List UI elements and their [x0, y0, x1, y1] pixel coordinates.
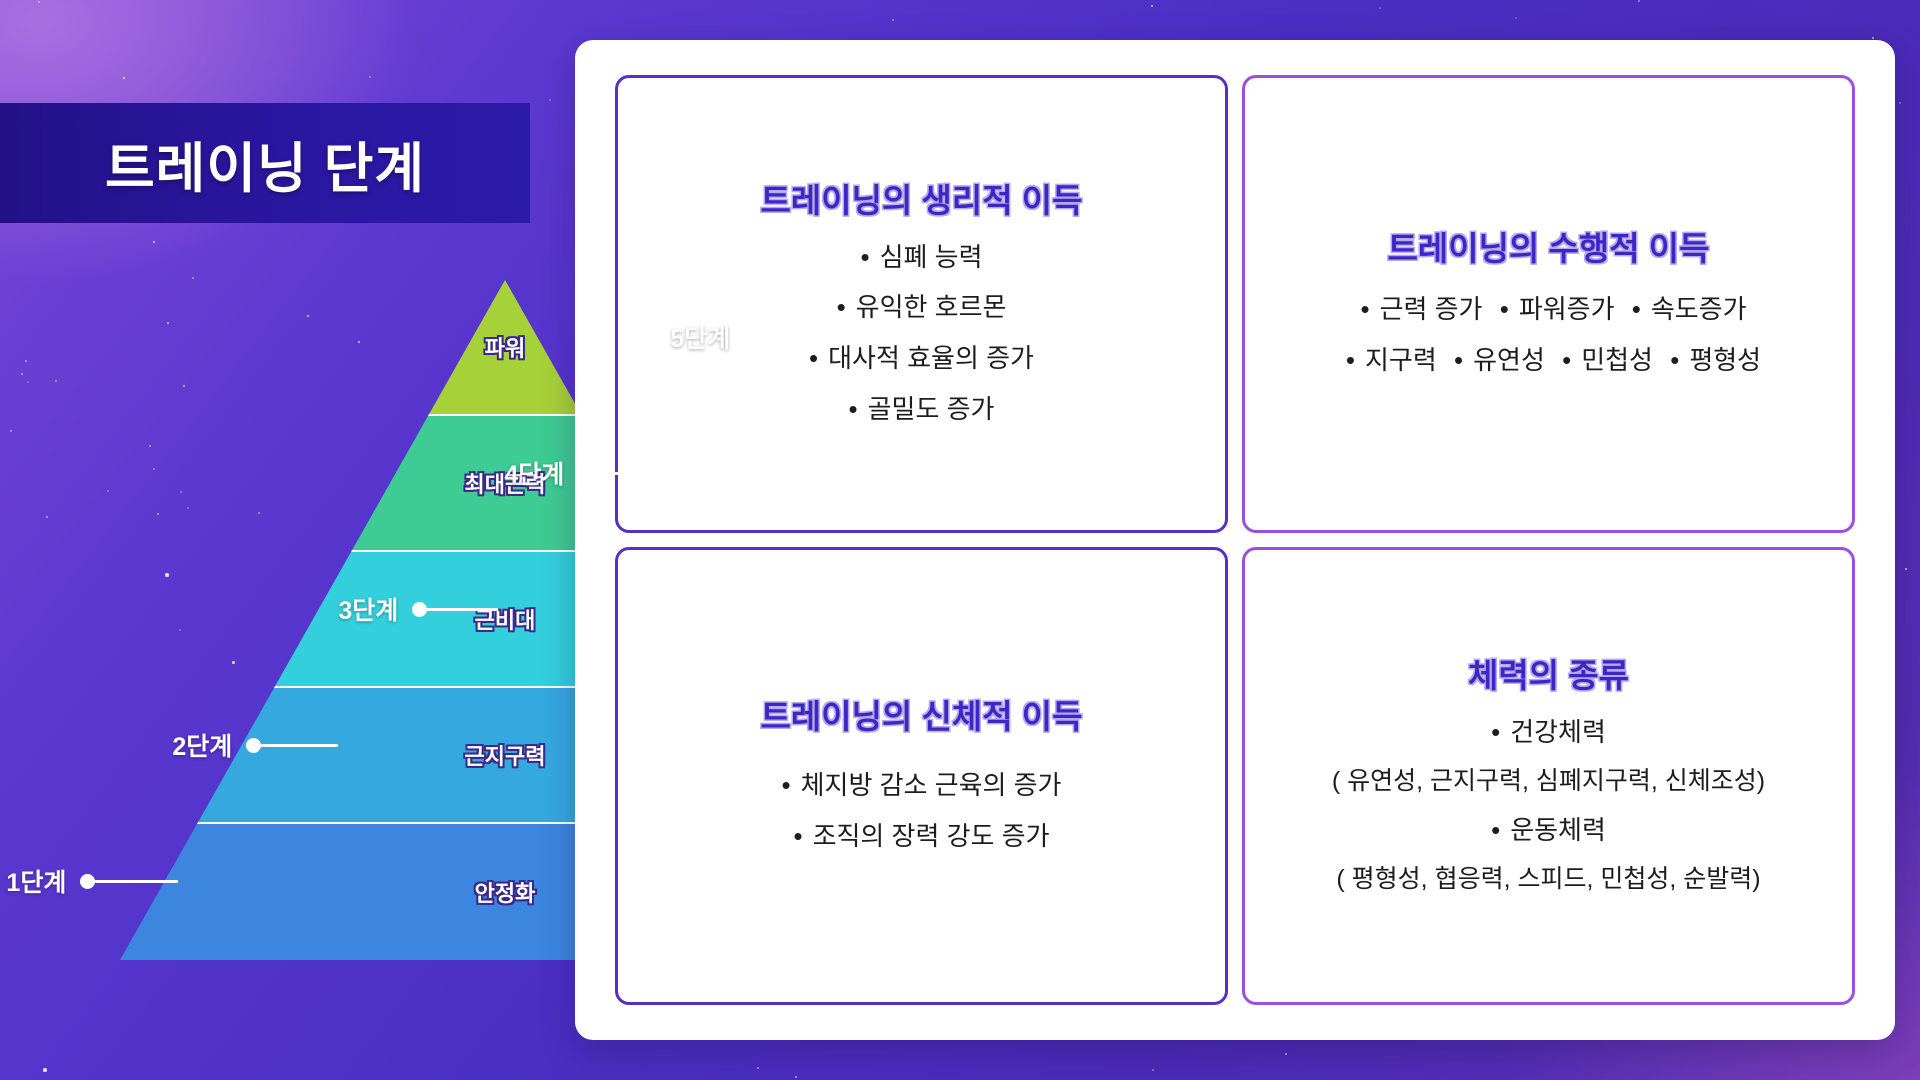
- star-dot: [1638, 0, 1640, 2]
- stage-label: 4단계: [504, 455, 564, 491]
- star-dot: [192, 277, 194, 279]
- callout-line: [592, 472, 658, 475]
- card-performance-benefits[interactable]: 트레이닝의 수행적 이득 •근력 증가 •파워증가 •속도증가 •지구력 •유연…: [1242, 75, 1855, 533]
- callout-line: [426, 608, 498, 611]
- star-dot: [10, 430, 12, 432]
- card-title-physiological: 트레이닝의 생리적 이득: [761, 174, 1083, 222]
- star-dot: [1899, 102, 1901, 104]
- card-physiological-benefits[interactable]: 트레이닝의 생리적 이득 심폐 능력 유익한 호르몬 대사적 효율의 증가 골밀…: [615, 75, 1228, 533]
- star-dot: [1152, 1069, 1154, 1071]
- performance-row-2: •지구력 •유연성 •민첩성 •평형성: [1336, 335, 1761, 386]
- star-dot: [1379, 7, 1381, 9]
- stage-label: 5단계: [670, 319, 730, 355]
- callout-line: [758, 336, 818, 339]
- fitness-list-2: 운동체력: [1491, 805, 1606, 856]
- callout-dot: [412, 602, 427, 617]
- star-dot: [27, 381, 29, 383]
- star-dot: [123, 77, 125, 79]
- physical-bullet-list: 체지방 감소 근육의 증가 조직의 장력 강도 증가: [782, 760, 1062, 861]
- page-title: 트레이닝 단계: [105, 124, 425, 203]
- star-dot: [21, 373, 23, 375]
- stage-callout-5[interactable]: 5단계: [331, 325, 819, 349]
- card-fitness-types[interactable]: 체력의 종류 건강체력 ( 유연성, 근지구력, 심폐지구력, 신체조성) 운동…: [1242, 547, 1855, 1005]
- list-item: 대사적 효율의 증가: [809, 333, 1034, 384]
- title-banner: 트레이닝 단계: [0, 103, 530, 223]
- star-dot: [757, 1067, 759, 1069]
- card-grid: 트레이닝의 생리적 이득 심폐 능력 유익한 호르몬 대사적 효율의 증가 골밀…: [615, 75, 1855, 1005]
- list-item: 조직의 장력 강도 증가: [782, 811, 1062, 862]
- fitness-note-motor: ( 평형성, 협응력, 스피드, 민첩성, 순발력): [1336, 856, 1760, 904]
- stage-callout-1[interactable]: 1단계: [0, 869, 178, 893]
- stage-label: 1단계: [6, 863, 66, 899]
- list-item: 심폐 능력: [809, 232, 1034, 283]
- star-dot: [153, 241, 155, 243]
- performance-row-1: •근력 증가 •파워증가 •속도증가: [1350, 284, 1746, 335]
- stage-label: 2단계: [172, 727, 232, 763]
- star-dot: [1285, 1053, 1287, 1055]
- star-dot: [107, 490, 109, 492]
- fitness-note-health: ( 유연성, 근지구력, 심폐지구력, 신체조성): [1332, 758, 1765, 806]
- list-item: 평형성: [1689, 345, 1761, 375]
- list-item: 운동체력: [1491, 805, 1606, 856]
- list-item: 지구력: [1365, 345, 1437, 375]
- star-dot: [1872, 37, 1874, 39]
- stage-label: 3단계: [338, 591, 398, 627]
- star-dot: [1151, 5, 1153, 7]
- list-item: 골밀도 증가: [809, 384, 1034, 435]
- callout-dot: [578, 466, 593, 481]
- card-title-performance: 트레이닝의 수행적 이득: [1388, 222, 1710, 270]
- star-dot: [1905, 568, 1907, 570]
- card-physical-benefits[interactable]: 트레이닝의 신체적 이득 체지방 감소 근육의 증가 조직의 장력 강도 증가: [615, 547, 1228, 1005]
- stage-callout-2[interactable]: 2단계: [82, 733, 339, 757]
- list-item: 속도증가: [1651, 294, 1747, 324]
- card-title-fitness: 체력의 종류: [1468, 649, 1629, 697]
- callout-dot: [246, 738, 261, 753]
- list-item: 체지방 감소 근육의 증가: [782, 760, 1062, 811]
- star-dot: [369, 76, 371, 78]
- stage-callout-3[interactable]: 3단계: [165, 597, 499, 621]
- callout-line: [94, 880, 178, 883]
- callout-line: [260, 744, 338, 747]
- star-dot: [46, 516, 48, 518]
- star-dot: [1515, 17, 1517, 19]
- star-dot: [38, 1, 40, 3]
- star-dot: [25, 360, 27, 362]
- list-item: 파워증가: [1519, 294, 1615, 324]
- list-item: 건강체력: [1491, 707, 1606, 758]
- star-dot: [892, 19, 894, 21]
- star-dot: [55, 380, 57, 382]
- star-dot: [549, 99, 551, 101]
- list-item: 민첩성: [1581, 345, 1653, 375]
- stage-callout-4[interactable]: 4단계: [248, 461, 659, 485]
- pyramid-tier-label: 안정화: [475, 876, 536, 908]
- list-item: 근력 증가: [1380, 294, 1483, 324]
- pyramid-tier-label: 근지구력: [465, 739, 546, 771]
- physiological-bullet-list: 심폐 능력 유익한 호르몬 대사적 효율의 증가 골밀도 증가: [809, 232, 1034, 435]
- list-item: 유연성: [1473, 345, 1545, 375]
- star-dot: [795, 1076, 797, 1078]
- content-panel: 트레이닝의 생리적 이득 심폐 능력 유익한 호르몬 대사적 효율의 증가 골밀…: [575, 40, 1895, 1040]
- list-item: 유익한 호르몬: [809, 282, 1034, 333]
- callout-dot: [744, 330, 759, 345]
- fitness-list: 건강체력: [1491, 707, 1606, 758]
- card-title-physical: 트레이닝의 신체적 이득: [761, 690, 1083, 738]
- star-dot: [43, 1068, 47, 1072]
- slide-background: 트레이닝 단계 파워최대근력근비대근지구력안정화 트레이닝의 생리적 이득 심폐…: [0, 0, 1920, 1080]
- callout-dot: [80, 874, 95, 889]
